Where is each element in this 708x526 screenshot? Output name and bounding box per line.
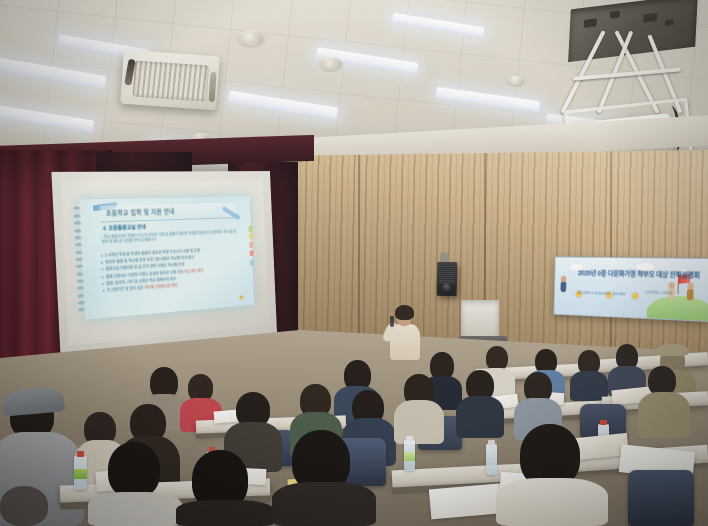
- speaker-driver-icon: [443, 283, 451, 291]
- slide-bullet-highlight: 학교별 가정통신문 확인: [144, 283, 178, 290]
- ac-vent-icon: [209, 72, 217, 102]
- attendee-body: [272, 482, 376, 526]
- child-illustration: [687, 288, 694, 300]
- bottle-label: [486, 456, 497, 465]
- child-illustration: [560, 281, 566, 292]
- attendee-body: [456, 396, 504, 438]
- bottle-cap: [488, 440, 494, 445]
- event-banner: 2025년 0중 다문화가정 학부모 대상 진학설명회 일시 2025. 0. …: [553, 256, 708, 322]
- water-bottle: [486, 444, 497, 475]
- presenter-hair: [395, 305, 414, 320]
- ac-grille: [133, 61, 209, 102]
- water-bottle: [404, 440, 415, 471]
- bottle-label: [404, 452, 415, 461]
- cap-icon: [656, 344, 688, 356]
- banner-bullet-icon: [632, 293, 638, 300]
- slide-section-heading: 4. 초등돌봄교실 안내: [103, 223, 146, 232]
- hill-illustration: [646, 295, 708, 322]
- bottle-cap: [77, 451, 84, 456]
- attendee-body: [176, 500, 274, 526]
- auditorium-scene: 2025년 0중 다문화가정 학부모 대상 진학설명회 일시 2025. 0. …: [0, 0, 708, 526]
- attendee-body: [496, 478, 608, 526]
- projected-slide: 초등학교 입학 및 지원 안내 4. 초등돌봄교실 안내 ▪ 학교 돌봄교실은 …: [79, 196, 254, 319]
- projection-screen: 초등학교 입학 및 지원 안내 4. 초등돌봄교실 안내 ▪ 학교 돌봄교실은 …: [51, 171, 277, 358]
- ceiling-sprinkler: [508, 76, 524, 85]
- ceiling-access-panel: [568, 0, 698, 62]
- banner-title: 2025년 0중 다문화가정 학부모 대상 진학설명회: [578, 269, 699, 281]
- wall-speaker: [437, 262, 458, 296]
- microphone-icon: [390, 316, 394, 327]
- attendee-body: [394, 400, 444, 444]
- banner-organizer: ○○교육지원청 ○○초등학교: [643, 290, 672, 295]
- screen-surface: 초등학교 입학 및 지원 안내 4. 초등돌봄교실 안내 ▪ 학교 돌봄교실은 …: [60, 180, 269, 346]
- banner-subtitle: 일시 2025. 0. 00.(0) 00:00 · 장소 0000: [578, 290, 626, 296]
- bottle-cap: [406, 436, 412, 441]
- ceiling-speaker: [238, 30, 264, 46]
- attendee-body: [638, 392, 690, 438]
- chair: [628, 470, 694, 526]
- wall-mount-bracket: [440, 252, 449, 262]
- attendee-body: [88, 492, 182, 526]
- attendee-head: [108, 442, 160, 498]
- air-conditioner-unit: [120, 50, 220, 111]
- water-bottle: [74, 456, 87, 490]
- ceiling-speaker: [320, 57, 342, 70]
- bottle-label: [74, 469, 87, 479]
- bottle-cap: [600, 420, 606, 425]
- slide-side-chips: [248, 226, 254, 274]
- speaker-grille: [439, 265, 455, 283]
- attendee-head: [0, 486, 48, 526]
